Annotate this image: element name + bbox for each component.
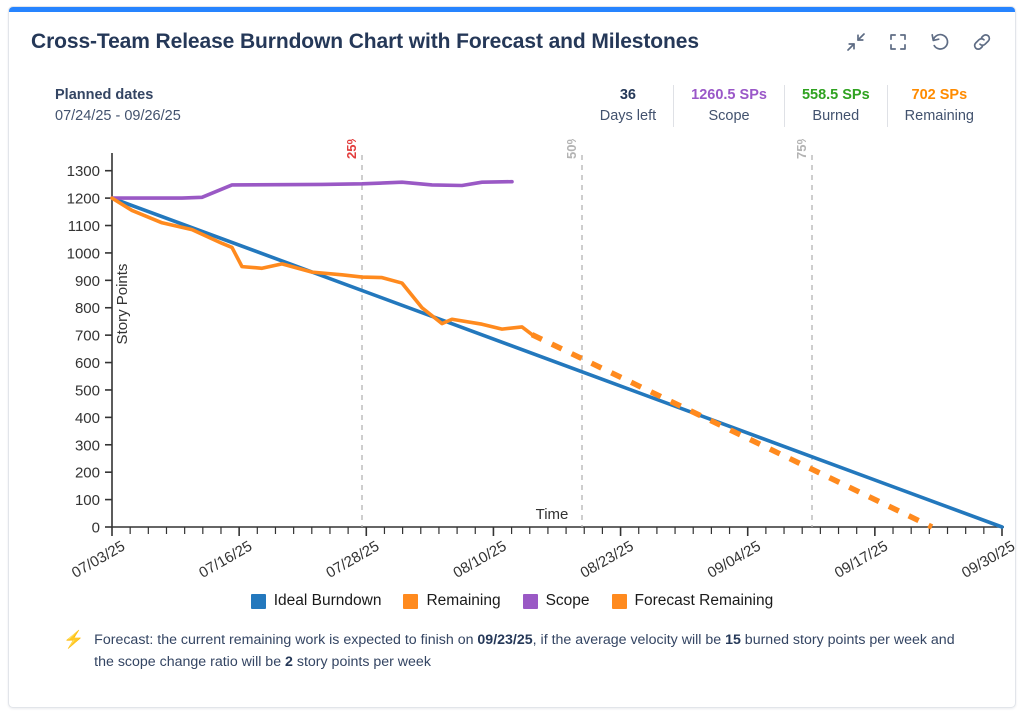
forecast-suffix: story points per week [293, 654, 431, 670]
page-title: Cross-Team Release Burndown Chart with F… [31, 29, 699, 55]
stat-days-left-value: 36 [600, 85, 656, 106]
burndown-chart: 0100200300400500600700800900100011001200… [9, 139, 1016, 609]
y-tick-label: 0 [92, 520, 100, 537]
series-line-scope [112, 182, 512, 198]
legend-item-scope[interactable]: Scope [523, 592, 590, 610]
stat-remaining-label: Remaining [905, 106, 974, 127]
accent-bar [9, 7, 1015, 12]
y-tick-label: 1100 [68, 218, 100, 235]
y-tick-label: 300 [75, 437, 100, 454]
legend-item-forecast-remaining[interactable]: Forecast Remaining [612, 592, 774, 610]
legend-label: Forecast Remaining [635, 592, 774, 610]
x-tick-label: 08/23/25 [578, 538, 637, 582]
y-tick-label: 100 [75, 492, 100, 509]
y-tick-label: 200 [75, 465, 100, 482]
link-icon[interactable] [971, 31, 993, 53]
y-tick-label: 800 [75, 300, 100, 317]
x-tick-label: 07/28/25 [323, 538, 382, 582]
lightning-bolt-icon: ⚡ [63, 630, 84, 650]
header-icon-group [845, 29, 993, 53]
forecast-scope-ratio: 2 [285, 654, 293, 670]
x-tick-label: 09/17/25 [832, 538, 891, 582]
legend-swatch-icon [523, 594, 538, 609]
y-tick-label: 1300 [67, 163, 100, 180]
forecast-velocity: 15 [725, 632, 741, 648]
y-axis-title: Story Points [114, 264, 131, 345]
x-tick-label: 09/30/25 [959, 538, 1016, 582]
legend-label: Scope [546, 592, 590, 610]
stat-remaining: 702 SPs Remaining [887, 85, 991, 127]
y-tick-label: 1200 [67, 191, 100, 208]
forecast-prefix: Forecast: the current remaining work is … [94, 632, 477, 648]
milestone-label: 25% [344, 139, 359, 159]
legend-swatch-icon [251, 594, 266, 609]
legend-label: Remaining [426, 592, 500, 610]
y-tick-label: 400 [75, 410, 100, 427]
y-tick-label: 600 [75, 355, 100, 372]
series-line-remaining [112, 198, 532, 334]
chart-legend: Ideal BurndownRemainingScopeForecast Rem… [9, 592, 1015, 610]
stat-group: 36 Days left 1260.5 SPs Scope 558.5 SPs … [583, 85, 991, 127]
burndown-card: Cross-Team Release Burndown Chart with F… [8, 6, 1016, 708]
planned-dates-block: Planned dates 07/24/25 - 09/26/25 [55, 85, 181, 127]
stat-remaining-value: 702 SPs [905, 85, 974, 106]
y-tick-label: 500 [75, 382, 100, 399]
stat-scope: 1260.5 SPs Scope [673, 85, 784, 127]
milestone-label: 75% [794, 139, 809, 159]
page-wrapper: Cross-Team Release Burndown Chart with F… [0, 0, 1024, 718]
forecast-mid: , if the average velocity will be [533, 632, 725, 648]
stat-burned: 558.5 SPs Burned [784, 85, 887, 127]
series-line-forecast-remaining [532, 335, 932, 527]
x-tick-label: 08/10/25 [450, 538, 509, 582]
forecast-footer: ⚡ Forecast: the current remaining work i… [9, 629, 1015, 673]
planned-dates-value: 07/24/25 - 09/26/25 [55, 106, 181, 127]
planned-dates-label: Planned dates [55, 85, 181, 106]
legend-item-remaining[interactable]: Remaining [403, 592, 500, 610]
legend-label: Ideal Burndown [274, 592, 382, 610]
summary-row: Planned dates 07/24/25 - 09/26/25 36 Day… [9, 85, 1015, 127]
series-line-ideal-burndown [112, 198, 1002, 527]
legend-swatch-icon [612, 594, 627, 609]
stat-days-left-label: Days left [600, 106, 656, 127]
stat-burned-value: 558.5 SPs [802, 85, 870, 106]
stat-burned-label: Burned [802, 106, 870, 127]
x-tick-label: 07/03/25 [69, 538, 128, 582]
legend-swatch-icon [403, 594, 418, 609]
collapse-icon[interactable] [845, 31, 867, 53]
y-tick-label: 700 [75, 328, 100, 345]
reset-icon[interactable] [929, 31, 951, 53]
x-tick-label: 09/04/25 [705, 538, 764, 582]
forecast-text: Forecast: the current remaining work is … [94, 629, 969, 673]
chart-svg: 0100200300400500600700800900100011001200… [9, 139, 1016, 609]
x-axis-title: Time [536, 506, 569, 523]
milestone-label: 50% [564, 139, 579, 159]
stat-scope-label: Scope [691, 106, 767, 127]
forecast-finish-date: 09/23/25 [477, 632, 532, 648]
y-tick-label: 1000 [67, 245, 100, 262]
y-tick-label: 900 [75, 273, 100, 290]
stat-scope-value: 1260.5 SPs [691, 85, 767, 106]
legend-item-ideal-burndown[interactable]: Ideal Burndown [251, 592, 382, 610]
x-tick-label: 07/16/25 [196, 538, 255, 582]
minimize-icon[interactable] [887, 31, 909, 53]
card-header: Cross-Team Release Burndown Chart with F… [9, 29, 1015, 55]
stat-days-left: 36 Days left [583, 85, 673, 127]
